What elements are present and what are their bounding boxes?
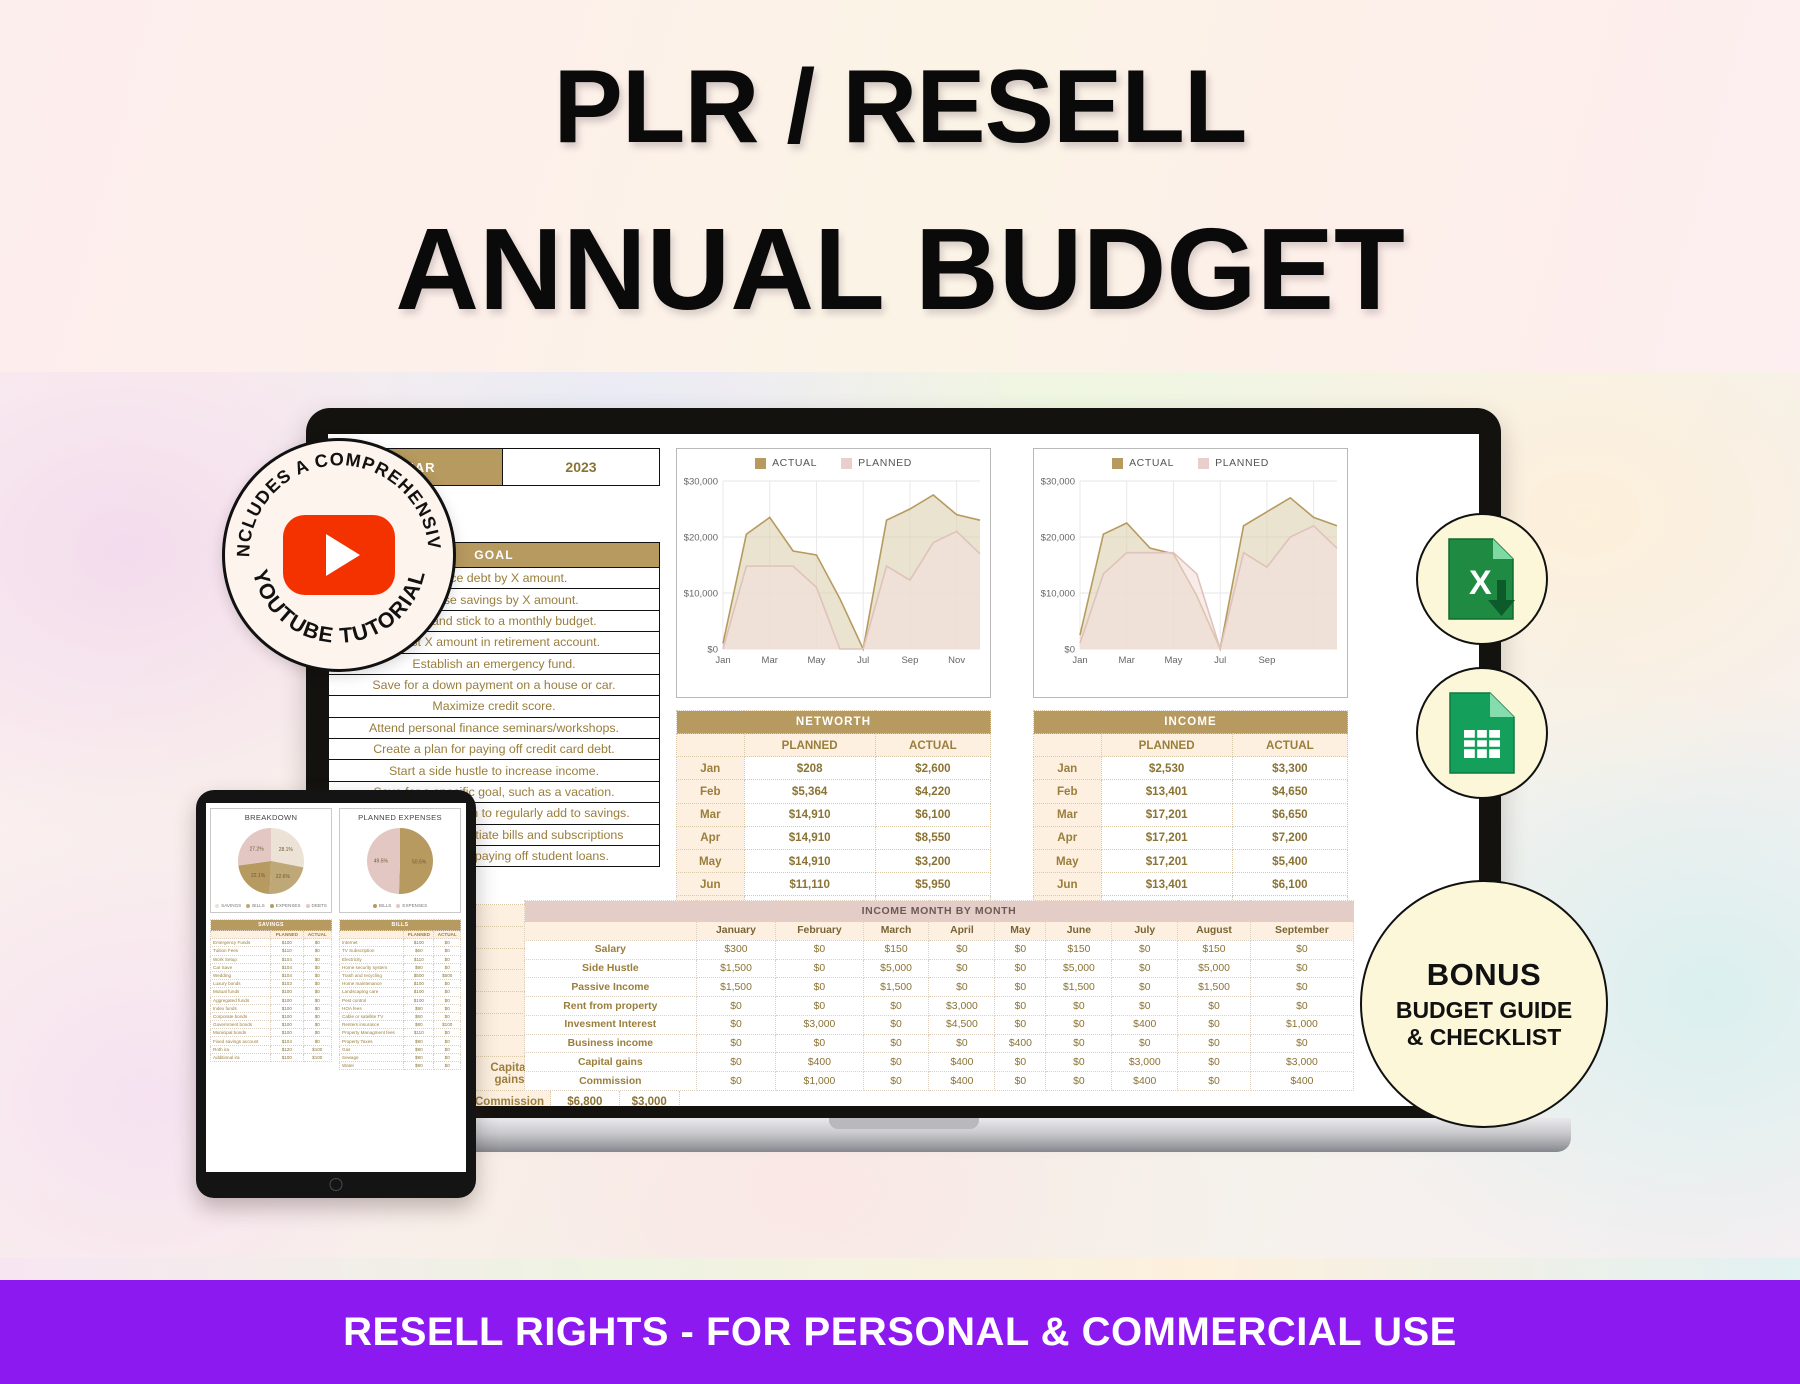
table-row: Mutual funds$100$0: [211, 988, 332, 996]
month-name[interactable]: May: [677, 849, 745, 872]
row-label[interactable]: Gas: [340, 1045, 404, 1053]
column-header: July: [1112, 922, 1178, 941]
amount-cell[interactable]: $0: [696, 1015, 776, 1034]
amount-cell[interactable]: $0: [1046, 1053, 1112, 1072]
amount-cell[interactable]: $100: [404, 996, 434, 1004]
amount-cell[interactable]: $300: [696, 940, 776, 959]
row-label[interactable]: Water: [340, 1062, 404, 1070]
row-label[interactable]: Wedding: [211, 971, 271, 979]
pie-legend-item: BILLS: [373, 903, 392, 908]
amount-cell[interactable]: $150: [1046, 940, 1112, 959]
imm-body: Salary$300$0$150$0$0$150$0$150$0Side Hus…: [525, 940, 1354, 1090]
amount-cell[interactable]: $0: [434, 988, 461, 996]
bonus-line-3: & CHECKLIST: [1407, 1024, 1562, 1051]
amount-cell[interactable]: $0: [929, 959, 995, 978]
month-name[interactable]: Jun: [677, 873, 745, 896]
amount-cell[interactable]: $2,600: [875, 757, 990, 780]
table-row: Municipal bonds$100$0: [211, 1029, 332, 1037]
amount-cell[interactable]: $0: [434, 955, 461, 963]
amount-cell[interactable]: $6,100: [1232, 873, 1347, 896]
row-label[interactable]: Roth ira: [211, 1045, 271, 1053]
row-label[interactable]: Tuition Fees: [211, 947, 271, 955]
amount-cell[interactable]: $100: [271, 1029, 303, 1037]
amount-cell[interactable]: $3,000: [1250, 1053, 1353, 1072]
amount-cell[interactable]: $17,201: [1101, 803, 1232, 826]
amount-cell[interactable]: $103: [271, 980, 303, 988]
amount-cell[interactable]: $0: [863, 997, 929, 1016]
amount-cell[interactable]: $400: [1250, 1072, 1353, 1091]
amount-cell[interactable]: $13,401: [1101, 873, 1232, 896]
row-label[interactable]: Luxury bonds: [211, 980, 271, 988]
amount-cell[interactable]: $0: [303, 963, 331, 971]
amount-cell[interactable]: $0: [995, 940, 1046, 959]
pie-legend-item: DEBTS: [306, 903, 327, 908]
row-label[interactable]: Emergency Funds: [211, 939, 271, 947]
svg-text:$10,000: $10,000: [1041, 589, 1075, 600]
amount-cell[interactable]: $0: [995, 978, 1046, 997]
amount-cell[interactable]: $0: [303, 947, 331, 955]
amount-cell[interactable]: $0: [863, 1034, 929, 1053]
amount-cell[interactable]: $0: [434, 1029, 461, 1037]
row-label[interactable]: Trash and recycling: [340, 971, 404, 979]
row-label[interactable]: Rent from property: [525, 997, 697, 1016]
row-label[interactable]: Electricity: [340, 955, 404, 963]
column-header: PLANNED: [271, 931, 303, 939]
amount-cell[interactable]: $5,000: [1178, 959, 1251, 978]
tablet-mockup: BREAKDOWN 28.1%22.6%22.1%27.2% SAVINGSBI…: [196, 790, 476, 1198]
amount-cell[interactable]: $120: [271, 1045, 303, 1053]
amount-cell[interactable]: $2,530: [1101, 757, 1232, 780]
amount-cell[interactable]: $0: [863, 1053, 929, 1072]
svg-text:Jul: Jul: [1214, 655, 1226, 666]
amount-cell[interactable]: $0: [1046, 997, 1112, 1016]
row-label[interactable]: Salary: [525, 940, 697, 959]
row-label[interactable]: Passive Income: [525, 978, 697, 997]
amount-cell[interactable]: $100: [271, 939, 303, 947]
table-row: Mar$14,910$6,100: [677, 803, 991, 826]
amount-cell[interactable]: $6,650: [1232, 803, 1347, 826]
amount-cell[interactable]: $0: [303, 996, 331, 1004]
column-header: March: [863, 922, 929, 941]
amount-cell[interactable]: $0: [1250, 940, 1353, 959]
table-row: Jan$2,530$3,300: [1034, 757, 1348, 780]
amount-cell[interactable]: $0: [434, 1053, 461, 1061]
column-header: [677, 734, 745, 757]
savings-table-columns: PLANNEDACTUAL: [211, 931, 332, 939]
amount-cell[interactable]: $100: [271, 1021, 303, 1029]
amount-cell[interactable]: $3,000: [1112, 1053, 1178, 1072]
amount-cell[interactable]: $0: [1112, 978, 1178, 997]
amount-cell[interactable]: $60: [404, 1012, 434, 1020]
amount-cell[interactable]: $0: [434, 947, 461, 955]
table-row: Salary$300$0$150$0$0$150$0$150$0: [525, 940, 1354, 959]
table-row: Government bonds$100$0: [211, 1021, 332, 1029]
amount-cell[interactable]: $0: [1112, 959, 1178, 978]
amount-cell[interactable]: $110: [404, 955, 434, 963]
amount-cell[interactable]: $11,110: [744, 873, 875, 896]
table-row: Gas$90$0: [340, 1045, 461, 1053]
goal-row[interactable]: Maximize credit score.: [329, 696, 660, 717]
table-row: Apr$14,910$8,550: [677, 826, 991, 849]
amount-cell[interactable]: $100: [303, 1053, 331, 1061]
column-header: [340, 931, 404, 939]
amount-cell[interactable]: $0: [1178, 1015, 1251, 1034]
amount-cell[interactable]: $3,000: [929, 997, 995, 1016]
amount-cell[interactable]: $0: [995, 1015, 1046, 1034]
amount-cell[interactable]: $0: [1178, 1034, 1251, 1053]
table-row: Luxury bonds$103$0: [211, 980, 332, 988]
amount-cell[interactable]: $5,950: [875, 873, 990, 896]
svg-text:YOUTUBE TUTORIAL: YOUTUBE TUTORIAL: [248, 567, 430, 648]
row-label[interactable]: Sewage: [340, 1053, 404, 1061]
goal-row[interactable]: Attend personal finance seminars/worksho…: [329, 717, 660, 738]
amount-cell[interactable]: $104: [271, 955, 303, 963]
amount-cell[interactable]: $0: [1112, 997, 1178, 1016]
laptop-notch: [829, 1118, 979, 1129]
row-label[interactable]: Government bonds: [211, 1021, 271, 1029]
amount-cell[interactable]: $0: [434, 1012, 461, 1020]
amount-cell[interactable]: $0: [1178, 1072, 1251, 1091]
amount-cell[interactable]: $4,500: [929, 1015, 995, 1034]
table-row: Trash and recycling$500$500: [340, 971, 461, 979]
networth-table-columns: PLANNEDACTUAL: [677, 734, 991, 757]
amount-cell[interactable]: $5,000: [1046, 959, 1112, 978]
row-label[interactable]: Commission: [525, 1072, 697, 1091]
amount-cell[interactable]: $3,300: [1232, 757, 1347, 780]
amount-cell[interactable]: $13,401: [1101, 780, 1232, 803]
goal-row[interactable]: Start a side hustle to increase income.: [329, 760, 660, 781]
amount-cell[interactable]: $0: [776, 940, 863, 959]
row-label[interactable]: Business income: [525, 1034, 697, 1053]
savings-mini-table: SAVINGS PLANNEDACTUAL Emergency Funds$10…: [210, 919, 332, 1062]
month-name[interactable]: Mar: [1034, 803, 1102, 826]
table-row: Emergency Funds$100$0: [211, 939, 332, 947]
row-label[interactable]: Additional ira: [211, 1053, 271, 1061]
row-label[interactable]: TV Subscription: [340, 947, 404, 955]
amount-cell[interactable]: $1,500: [1046, 978, 1112, 997]
amount-cell[interactable]: $400: [1112, 1015, 1178, 1034]
month-name[interactable]: Jun: [1034, 873, 1102, 896]
amount-cell[interactable]: $208: [744, 757, 875, 780]
column-header: [211, 931, 271, 939]
amount-cell[interactable]: $0: [1046, 1034, 1112, 1053]
headline-line-2: ANNUAL BUDGET: [395, 211, 1405, 327]
amount-cell[interactable]: $0: [776, 959, 863, 978]
amount-cell[interactable]: $1,500: [863, 978, 929, 997]
amount-cell[interactable]: $4,650: [1232, 780, 1347, 803]
amount-cell[interactable]: $3,000: [776, 1015, 863, 1034]
month-name[interactable]: Feb: [677, 780, 745, 803]
svg-text:$30,000: $30,000: [1041, 477, 1075, 488]
amount-cell[interactable]: $100: [404, 939, 434, 947]
row-label[interactable]: Property Managment fees: [340, 1029, 404, 1037]
amount-cell[interactable]: $0: [1250, 997, 1353, 1016]
amount-cell[interactable]: $3,000: [619, 1091, 679, 1106]
amount-cell[interactable]: $400: [776, 1053, 863, 1072]
amount-cell[interactable]: $0: [995, 1072, 1046, 1091]
svg-text:22.1%: 22.1%: [251, 873, 266, 879]
amount-cell[interactable]: $0: [1046, 1015, 1112, 1034]
amount-cell[interactable]: $80: [404, 1021, 434, 1029]
row-label[interactable]: Side Hustle: [525, 959, 697, 978]
month-name[interactable]: Apr: [1034, 826, 1102, 849]
svg-text:Mar: Mar: [762, 655, 778, 666]
table-row: Electricity$110$0: [340, 955, 461, 963]
amount-cell[interactable]: $0: [303, 988, 331, 996]
excel-download-badge[interactable]: X: [1416, 513, 1548, 645]
amount-cell[interactable]: $0: [696, 1034, 776, 1053]
month-name[interactable]: Feb: [1034, 780, 1102, 803]
amount-cell[interactable]: $0: [1178, 1053, 1251, 1072]
amount-cell[interactable]: $14,910: [744, 826, 875, 849]
row-label[interactable]: Work Setup: [211, 955, 271, 963]
amount-cell[interactable]: $5,000: [863, 959, 929, 978]
amount-cell[interactable]: $0: [303, 1021, 331, 1029]
amount-cell[interactable]: $0: [303, 939, 331, 947]
amount-cell[interactable]: $0: [776, 978, 863, 997]
laptop-screen: YEAR 2023 GOAL Reduce debt by X amount.I…: [328, 434, 1479, 1106]
bonus-line-2: BUDGET GUIDE: [1396, 997, 1572, 1024]
row-label[interactable]: Renters insurance: [340, 1021, 404, 1029]
breakdown-pie-card: BREAKDOWN 28.1%22.6%22.1%27.2% SAVINGSBI…: [210, 808, 332, 913]
amount-cell[interactable]: $0: [434, 1045, 461, 1053]
column-header: June: [1046, 922, 1112, 941]
column-header: PLANNED: [404, 931, 434, 939]
google-sheets-badge[interactable]: [1416, 667, 1548, 799]
amount-cell[interactable]: $0: [434, 939, 461, 947]
amount-cell[interactable]: $0: [929, 978, 995, 997]
row-label[interactable]: Internet: [340, 939, 404, 947]
table-row: Additional ira$100$100: [211, 1053, 332, 1061]
amount-cell[interactable]: $0: [303, 1029, 331, 1037]
amount-cell[interactable]: $6,100: [875, 803, 990, 826]
amount-cell[interactable]: $0: [929, 940, 995, 959]
row-label[interactable]: HOA fees: [340, 1004, 404, 1012]
amount-cell[interactable]: $500: [404, 971, 434, 979]
amount-cell[interactable]: $90: [404, 1037, 434, 1045]
planned-expenses-pie-title: PLANNED EXPENSES: [340, 813, 460, 822]
table-row: Work Setup$104$0: [211, 955, 332, 963]
amount-cell[interactable]: $4,220: [875, 780, 990, 803]
amount-cell[interactable]: $100: [303, 1045, 331, 1053]
amount-cell[interactable]: $0: [434, 963, 461, 971]
goal-row[interactable]: Save for a down payment on a house or ca…: [329, 674, 660, 695]
tablet-screen: BREAKDOWN 28.1%22.6%22.1%27.2% SAVINGSBI…: [206, 803, 466, 1172]
amount-cell[interactable]: $0: [303, 1012, 331, 1020]
svg-text:50.5%: 50.5%: [412, 859, 427, 865]
table-row: Index funds$100$0: [211, 1004, 332, 1012]
amount-cell[interactable]: $60: [404, 947, 434, 955]
row-label[interactable]: Property Taxes: [340, 1037, 404, 1045]
amount-cell[interactable]: $0: [863, 1015, 929, 1034]
legend-actual-label: ACTUAL: [1129, 457, 1174, 469]
amount-cell[interactable]: $8,550: [875, 826, 990, 849]
amount-cell[interactable]: $0: [1250, 1034, 1353, 1053]
amount-cell[interactable]: $7,200: [1232, 826, 1347, 849]
table-row: Jun$13,401$6,100: [1034, 873, 1348, 896]
bills-mini-table: BILLS PLANNEDACTUAL Internet$100$0TV Sub…: [339, 919, 461, 1070]
svg-text:Nov: Nov: [948, 655, 965, 666]
amount-cell[interactable]: $1,000: [776, 1072, 863, 1091]
amount-cell[interactable]: $90: [404, 963, 434, 971]
row-label[interactable]: Home maintenance: [340, 980, 404, 988]
column-header: ACTUAL: [303, 931, 331, 939]
headline-line-1: PLR / RESELL: [554, 55, 1247, 159]
column-header: [1034, 734, 1102, 757]
amount-cell[interactable]: $0: [1112, 1034, 1178, 1053]
amount-cell[interactable]: $3,200: [875, 849, 990, 872]
breakdown-pie-chart: 28.1%22.6%22.1%27.2%: [211, 825, 331, 897]
amount-cell[interactable]: $1,000: [1250, 1015, 1353, 1034]
row-label[interactable]: Fixed savings account: [211, 1037, 271, 1045]
amount-cell[interactable]: $0: [696, 1072, 776, 1091]
amount-cell[interactable]: $150: [1178, 940, 1251, 959]
month-name[interactable]: Apr: [677, 826, 745, 849]
amount-cell[interactable]: $0: [776, 1034, 863, 1053]
amount-cell[interactable]: $100: [271, 1053, 303, 1061]
amount-cell[interactable]: $6,800: [551, 1091, 620, 1106]
row-label[interactable]: Pest control: [340, 996, 404, 1004]
amount-cell[interactable]: $104: [271, 971, 303, 979]
row-label[interactable]: Commission: [469, 1091, 551, 1106]
amount-cell[interactable]: $0: [1046, 1072, 1112, 1091]
amount-cell[interactable]: $17,201: [1101, 826, 1232, 849]
amount-cell[interactable]: $90: [404, 1062, 434, 1070]
amount-cell[interactable]: $0: [995, 997, 1046, 1016]
amount-cell[interactable]: $90: [404, 1045, 434, 1053]
amount-cell[interactable]: $0: [1112, 940, 1178, 959]
legend-planned-label: PLANNED: [1215, 457, 1269, 469]
column-header: September: [1250, 922, 1353, 941]
month-name[interactable]: Jan: [677, 757, 745, 780]
svg-text:Jul: Jul: [857, 655, 869, 666]
amount-cell[interactable]: $0: [303, 955, 331, 963]
column-header: August: [1178, 922, 1251, 941]
amount-cell[interactable]: $100: [404, 980, 434, 988]
amount-cell[interactable]: $0: [863, 1072, 929, 1091]
amount-cell[interactable]: $14,910: [744, 849, 875, 872]
legend-actual-label: ACTUAL: [772, 457, 817, 469]
amount-cell[interactable]: $400: [929, 1053, 995, 1072]
amount-cell[interactable]: $0: [303, 1037, 331, 1045]
svg-text:22.6%: 22.6%: [276, 874, 291, 880]
amount-cell[interactable]: $0: [929, 1034, 995, 1053]
amount-cell[interactable]: $100: [271, 988, 303, 996]
google-sheets-icon: [1446, 690, 1518, 776]
row-label[interactable]: Municipal bonds: [211, 1029, 271, 1037]
amount-cell[interactable]: $0: [995, 959, 1046, 978]
amount-cell[interactable]: $110: [404, 1029, 434, 1037]
planned-expenses-pie-chart: 50.5%49.5%: [340, 825, 460, 897]
footer-text: RESELL RIGHTS - FOR PERSONAL & COMMERCIA…: [343, 1310, 1457, 1355]
row-label[interactable]: Cable or satellite TV: [340, 1012, 404, 1020]
row-label[interactable]: Corporate bonds: [211, 1012, 271, 1020]
row-label[interactable]: Home security system: [340, 963, 404, 971]
amount-cell[interactable]: $0: [303, 971, 331, 979]
legend-planned: PLANNED: [1198, 457, 1269, 469]
amount-cell[interactable]: $5,400: [1232, 849, 1347, 872]
amount-cell[interactable]: $90: [404, 1004, 434, 1012]
row-label[interactable]: Index funds: [211, 1004, 271, 1012]
amount-cell[interactable]: $17,201: [1101, 849, 1232, 872]
svg-text:Sep: Sep: [901, 655, 918, 666]
savings-table-body: Emergency Funds$100$0Tuition Fees$110$0W…: [211, 939, 332, 1062]
amount-cell[interactable]: $500: [434, 971, 461, 979]
amount-cell[interactable]: $0: [1250, 978, 1353, 997]
income-month-by-month-table: INCOME MONTH BY MONTH JanuaryFebruaryMar…: [524, 900, 1354, 1091]
amount-cell[interactable]: $100: [271, 1012, 303, 1020]
amount-cell[interactable]: $0: [303, 1004, 331, 1012]
amount-cell[interactable]: $0: [434, 1037, 461, 1045]
amount-cell[interactable]: $0: [1178, 997, 1251, 1016]
table-row: Jun$11,110$5,950: [677, 873, 991, 896]
amount-cell[interactable]: $110: [271, 947, 303, 955]
amount-cell[interactable]: $104: [271, 963, 303, 971]
amount-cell[interactable]: $104: [271, 1037, 303, 1045]
column-header: ACTUAL: [1232, 734, 1347, 757]
amount-cell[interactable]: $100: [271, 996, 303, 1004]
year-value-cell[interactable]: 2023: [503, 448, 660, 486]
amount-cell[interactable]: $100: [434, 1021, 461, 1029]
row-label[interactable]: Invesment Interest: [525, 1015, 697, 1034]
amount-cell[interactable]: $5,364: [744, 780, 875, 803]
amount-cell[interactable]: $0: [434, 1062, 461, 1070]
month-name[interactable]: May: [1034, 849, 1102, 872]
amount-cell[interactable]: $14,910: [744, 803, 875, 826]
goal-row[interactable]: Create a plan for paying off credit card…: [329, 739, 660, 760]
month-name[interactable]: Mar: [677, 803, 745, 826]
amount-cell[interactable]: $0: [434, 1004, 461, 1012]
row-label[interactable]: Mutual funds: [211, 988, 271, 996]
row-label[interactable]: Aggregated funds: [211, 996, 271, 1004]
table-row: Commission$0$1,000$0$400$0$0$400$0$400: [525, 1072, 1354, 1091]
pie-legend-item: SAVINGS: [215, 903, 241, 908]
amount-cell[interactable]: $0: [1250, 959, 1353, 978]
amount-cell[interactable]: $100: [271, 1004, 303, 1012]
amount-cell[interactable]: $1,500: [696, 978, 776, 997]
amount-cell[interactable]: $0: [696, 1053, 776, 1072]
amount-cell[interactable]: $400: [929, 1072, 995, 1091]
amount-cell[interactable]: $400: [1112, 1072, 1178, 1091]
row-label[interactable]: Capital gains: [525, 1053, 697, 1072]
networth-table-title: NETWORTH: [677, 711, 991, 734]
amount-cell[interactable]: $0: [995, 1053, 1046, 1072]
income-table-title: INCOME: [1034, 711, 1348, 734]
amount-cell[interactable]: $0: [434, 980, 461, 988]
amount-cell[interactable]: $0: [776, 997, 863, 1016]
column-header: February: [776, 922, 863, 941]
amount-cell[interactable]: $400: [995, 1034, 1046, 1053]
tablet-home-button[interactable]: [330, 1178, 343, 1191]
amount-cell[interactable]: $0: [696, 997, 776, 1016]
svg-text:$30,000: $30,000: [684, 477, 718, 488]
table-row: Corporate bonds$100$0: [211, 1012, 332, 1020]
table-row: Roth ira$120$100: [211, 1045, 332, 1053]
svg-text:May: May: [807, 655, 825, 666]
amount-cell[interactable]: $1,500: [696, 959, 776, 978]
amount-cell[interactable]: $0: [434, 996, 461, 1004]
amount-cell[interactable]: $90: [404, 1053, 434, 1061]
amount-cell[interactable]: $1,500: [1178, 978, 1251, 997]
month-name[interactable]: Jan: [1034, 757, 1102, 780]
amount-cell[interactable]: $0: [303, 980, 331, 988]
svg-text:28.1%: 28.1%: [279, 847, 294, 853]
row-label[interactable]: Landscaping care: [340, 988, 404, 996]
row-label[interactable]: Car Save: [211, 963, 271, 971]
amount-cell[interactable]: $150: [863, 940, 929, 959]
table-row: May$17,201$5,400: [1034, 849, 1348, 872]
amount-cell[interactable]: $100: [404, 988, 434, 996]
